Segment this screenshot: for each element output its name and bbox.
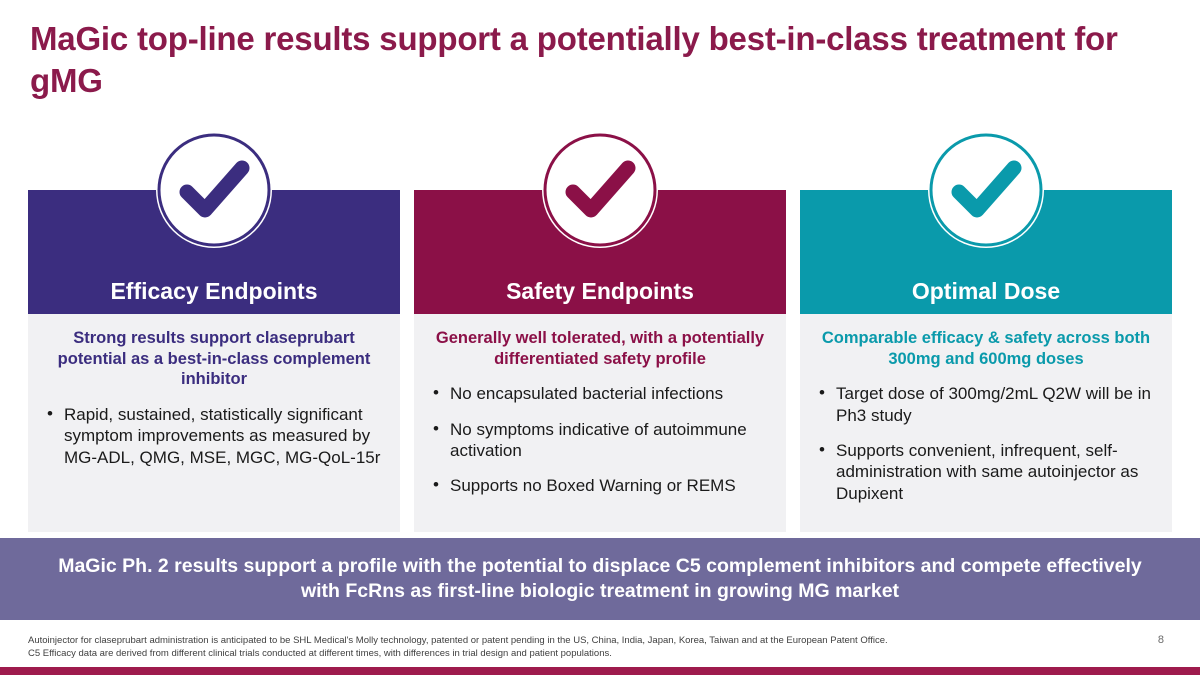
- slide-canvas: MaGic top-line results support a potenti…: [0, 0, 1200, 675]
- list-item: Rapid, sustained, statistically signific…: [44, 404, 384, 468]
- check-icon: [928, 132, 1044, 248]
- list-item: Supports convenient, infrequent, self-ad…: [816, 440, 1156, 504]
- card-efficacy-header: Efficacy Endpoints: [28, 190, 400, 314]
- card-efficacy-bullets: Rapid, sustained, statistically signific…: [44, 404, 384, 468]
- card-optimal-dose-title: Optimal Dose: [912, 279, 1060, 304]
- card-efficacy-lede: Strong results support claseprubart pote…: [44, 328, 384, 390]
- card-safety: Safety Endpoints Generally well tolerate…: [414, 190, 786, 532]
- list-item: No symptoms indicative of autoimmune act…: [430, 419, 770, 462]
- card-optimal-dose-lede: Comparable efficacy & safety across both…: [816, 328, 1156, 369]
- check-icon: [542, 132, 658, 248]
- summary-banner: MaGic Ph. 2 results support a profile wi…: [0, 538, 1200, 620]
- card-safety-bullets: No encapsulated bacterial infections No …: [430, 383, 770, 497]
- list-item: Target dose of 300mg/2mL Q2W will be in …: [816, 383, 1156, 426]
- card-safety-lede: Generally well tolerated, with a potenti…: [430, 328, 770, 369]
- summary-banner-text: MaGic Ph. 2 results support a profile wi…: [55, 554, 1145, 605]
- card-safety-body: Generally well tolerated, with a potenti…: [414, 314, 786, 532]
- footnote-line: C5 Efficacy data are derived from differ…: [28, 647, 1028, 660]
- card-safety-title: Safety Endpoints: [506, 279, 694, 304]
- card-efficacy: Efficacy Endpoints Strong results suppor…: [28, 190, 400, 532]
- list-item: No encapsulated bacterial infections: [430, 383, 770, 404]
- list-item: Supports no Boxed Warning or REMS: [430, 475, 770, 496]
- page-title: MaGic top-line results support a potenti…: [30, 18, 1160, 102]
- footnote-line: Autoinjector for claseprubart administra…: [28, 634, 1028, 647]
- footnotes: Autoinjector for claseprubart administra…: [28, 634, 1028, 660]
- card-efficacy-title: Efficacy Endpoints: [110, 279, 317, 304]
- card-safety-header: Safety Endpoints: [414, 190, 786, 314]
- check-icon: [156, 132, 272, 248]
- card-optimal-dose: Optimal Dose Comparable efficacy & safet…: [800, 190, 1172, 532]
- card-optimal-dose-body: Comparable efficacy & safety across both…: [800, 314, 1172, 532]
- page-number: 8: [1158, 634, 1164, 646]
- card-optimal-dose-bullets: Target dose of 300mg/2mL Q2W will be in …: [816, 383, 1156, 504]
- bottom-accent-bar: [0, 667, 1200, 675]
- card-efficacy-body: Strong results support claseprubart pote…: [28, 314, 400, 532]
- card-optimal-dose-header: Optimal Dose: [800, 190, 1172, 314]
